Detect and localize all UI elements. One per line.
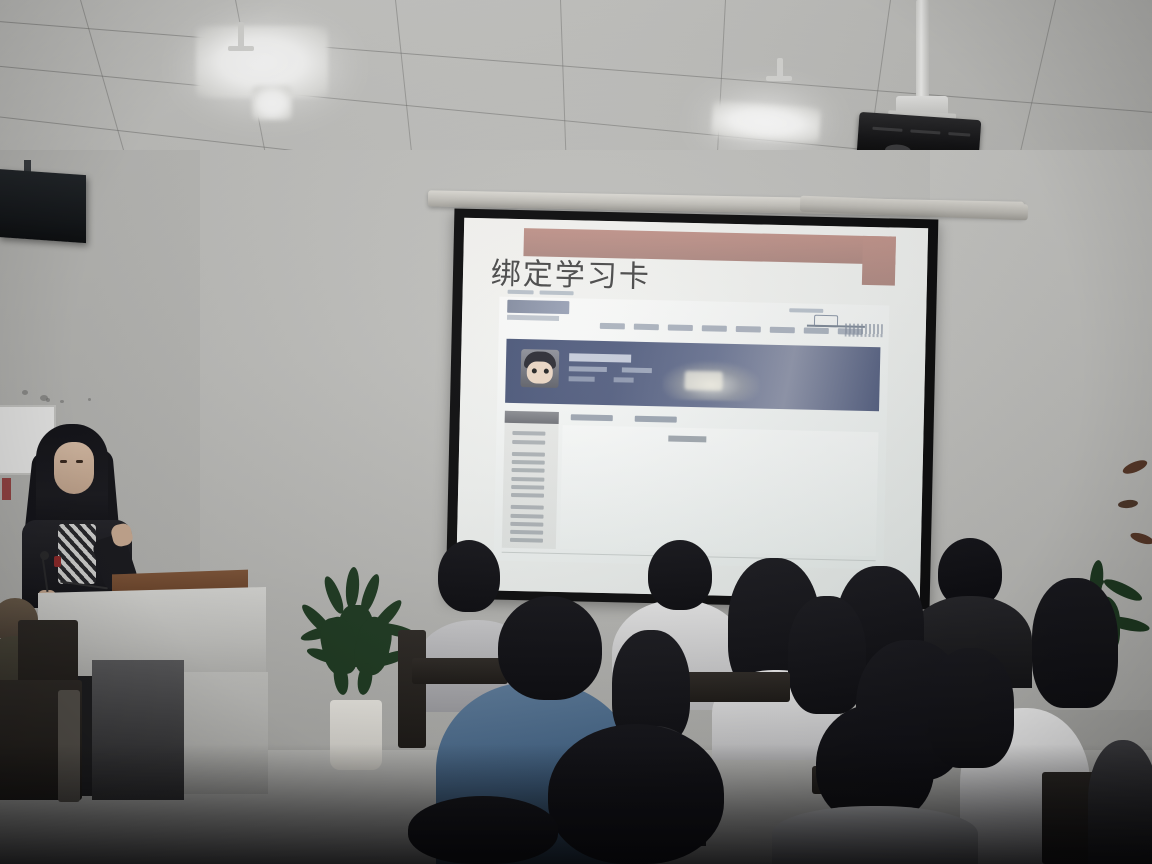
sidebar-item[interactable] — [511, 476, 545, 481]
nav-item[interactable] — [736, 326, 761, 333]
light-bracket-2 — [766, 76, 792, 81]
ceiling-light-2 — [711, 100, 821, 143]
chair — [412, 658, 508, 684]
banner-meta — [622, 367, 652, 373]
sidebar-item[interactable] — [511, 452, 545, 457]
foreground-shadow — [0, 744, 1152, 864]
website-qr-code — [845, 323, 883, 337]
nav-item[interactable] — [600, 323, 625, 330]
sidebar-item[interactable] — [511, 460, 545, 465]
banner-meta — [569, 366, 607, 372]
nav-item[interactable] — [804, 327, 829, 334]
sidebar-item[interactable] — [510, 493, 544, 498]
content-placeholder-text — [668, 435, 706, 442]
embedded-website-screenshot — [494, 297, 890, 570]
wall-speaker — [0, 169, 86, 243]
banner-meta — [569, 376, 595, 382]
website-logo-subtitle — [507, 315, 559, 321]
projector-mount-pole — [916, 0, 929, 100]
sidebar-item[interactable] — [510, 530, 544, 535]
nav-item[interactable] — [770, 327, 795, 334]
presenter-badge — [54, 556, 61, 567]
banner-meta — [614, 377, 634, 382]
sidebar-header — [505, 410, 560, 424]
nav-item[interactable] — [634, 324, 659, 331]
website-tabs — [571, 415, 677, 423]
tab-item[interactable] — [635, 416, 677, 423]
user-avatar[interactable] — [520, 350, 559, 389]
banner-username — [570, 353, 632, 362]
microphone — [40, 551, 49, 560]
tab-item[interactable] — [571, 415, 613, 422]
sidebar-item[interactable] — [511, 468, 545, 473]
audience-member-head — [788, 596, 866, 714]
presenter-face — [54, 442, 94, 494]
audience-member-head — [438, 540, 500, 612]
slide-title: 绑定学习卡 — [490, 248, 651, 296]
wall-marker — [2, 478, 11, 500]
website-banner — [505, 339, 880, 411]
chair — [398, 630, 426, 748]
banner-illustration-highlight — [685, 371, 723, 391]
sidebar-item[interactable] — [510, 505, 544, 510]
website-content-area — [560, 425, 878, 556]
sidebar-item[interactable] — [509, 538, 543, 543]
website-logo — [507, 300, 569, 314]
audience-member-head — [498, 596, 602, 700]
audience-member-head — [648, 540, 712, 610]
classroom-photo: 绑定学习卡 — [0, 0, 1152, 864]
presenter-scarf — [58, 524, 96, 584]
ceiling-light-secondary — [252, 86, 292, 120]
website-sidebar — [502, 410, 560, 549]
sidebar-item[interactable] — [510, 522, 544, 527]
sidebar-item[interactable] — [512, 439, 546, 444]
nav-item[interactable] — [702, 325, 727, 332]
sidebar-item[interactable] — [510, 514, 544, 519]
light-bracket — [228, 46, 254, 51]
sidebar-item[interactable] — [512, 431, 546, 436]
slide-accent-band-step — [862, 236, 896, 285]
nav-item[interactable] — [668, 324, 693, 331]
audience-member-head — [1032, 578, 1118, 708]
sidebar-item[interactable] — [511, 485, 545, 490]
